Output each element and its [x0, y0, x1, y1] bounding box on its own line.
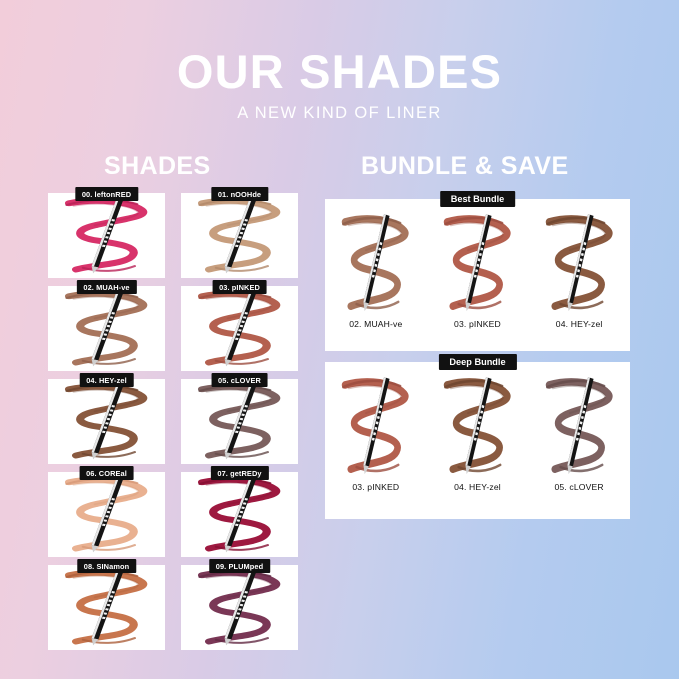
- shade-card[interactable]: 06. COREal: [48, 472, 165, 557]
- shade-label: 08. SINamon: [77, 559, 136, 573]
- shade-swatch-art: [181, 193, 298, 278]
- bundle-item-label: 02. MUAH-ve: [328, 319, 423, 329]
- shades-section-heading: SHADES: [104, 152, 211, 181]
- bundle-swatch-art: [430, 372, 525, 480]
- shade-swatch-art: [48, 286, 165, 371]
- bundle-card-best[interactable]: Best Bundle02. MUAH-ve03. pINKED04. HEY-…: [325, 199, 630, 351]
- shade-swatch-art: [181, 472, 298, 557]
- shade-card[interactable]: 04. HEY-zel: [48, 379, 165, 464]
- shade-swatch-art: [181, 565, 298, 650]
- shade-card[interactable]: 09. PLUMped: [181, 565, 298, 650]
- shade-swatch-art: [181, 286, 298, 371]
- bundle-item-label: 03. pINKED: [430, 319, 525, 329]
- shade-label: 03. pINKED: [212, 280, 267, 294]
- bundle-swatch-art: [328, 209, 423, 317]
- shade-label: 06. COREal: [79, 466, 134, 480]
- bundle-card-deep[interactable]: Deep Bundle03. pINKED04. HEY-zel05. cLOV…: [325, 362, 630, 519]
- page-subtitle: A NEW KIND OF LINER: [0, 104, 679, 123]
- shade-card[interactable]: 05. cLOVER: [181, 379, 298, 464]
- shade-label: 04. HEY-zel: [79, 373, 134, 387]
- shade-swatch-art: [48, 193, 165, 278]
- page-title: OUR SHADES: [0, 48, 679, 95]
- bundle-item[interactable]: 05. cLOVER: [532, 372, 627, 492]
- bundle-item[interactable]: 03. pINKED: [328, 372, 423, 492]
- bundle-swatch-art: [532, 209, 627, 317]
- bundle-swatch-art: [430, 209, 525, 317]
- shade-swatch-art: [48, 472, 165, 557]
- bundle-name-badge: Deep Bundle: [438, 354, 516, 370]
- shade-card[interactable]: 01. nOOHde: [181, 193, 298, 278]
- shade-label: 09. PLUMped: [209, 559, 271, 573]
- bundle-item-label: 04. HEY-zel: [430, 482, 525, 492]
- bundle-items: 02. MUAH-ve03. pINKED04. HEY-zel: [325, 209, 630, 351]
- shade-label: 02. MUAH-ve: [76, 280, 136, 294]
- shade-label: 07. getREDy: [210, 466, 268, 480]
- shade-label: 01. nOOHde: [211, 187, 268, 201]
- shade-swatch-art: [48, 565, 165, 650]
- bundle-item-label: 05. cLOVER: [532, 482, 627, 492]
- shade-swatch-art: [48, 379, 165, 464]
- bundle-item-label: 03. pINKED: [328, 482, 423, 492]
- bundle-swatch-art: [532, 372, 627, 480]
- bundle-item[interactable]: 02. MUAH-ve: [328, 209, 423, 329]
- bundle-item[interactable]: 04. HEY-zel: [532, 209, 627, 329]
- shade-swatch-art: [181, 379, 298, 464]
- bundle-item[interactable]: 04. HEY-zel: [430, 372, 525, 492]
- bundle-section-heading: BUNDLE & SAVE: [361, 152, 569, 181]
- poster-header: OUR SHADES A NEW KIND OF LINER: [0, 48, 679, 123]
- shade-card[interactable]: 00. leftonRED: [48, 193, 165, 278]
- shades-grid: 00. leftonRED01. nOOHde02. MUAH-ve03. pI…: [48, 193, 298, 650]
- shade-label: 05. cLOVER: [211, 373, 268, 387]
- shade-label: 00. leftonRED: [75, 187, 138, 201]
- bundle-items: 03. pINKED04. HEY-zel05. cLOVER: [325, 372, 630, 519]
- bundle-item[interactable]: 03. pINKED: [430, 209, 525, 329]
- shade-card[interactable]: 07. getREDy: [181, 472, 298, 557]
- bundle-swatch-art: [328, 372, 423, 480]
- poster-root: OUR SHADES A NEW KIND OF LINER SHADES BU…: [0, 0, 679, 679]
- shade-card[interactable]: 08. SINamon: [48, 565, 165, 650]
- bundle-name-badge: Best Bundle: [440, 191, 516, 207]
- bundle-item-label: 04. HEY-zel: [532, 319, 627, 329]
- shade-card[interactable]: 03. pINKED: [181, 286, 298, 371]
- shade-card[interactable]: 02. MUAH-ve: [48, 286, 165, 371]
